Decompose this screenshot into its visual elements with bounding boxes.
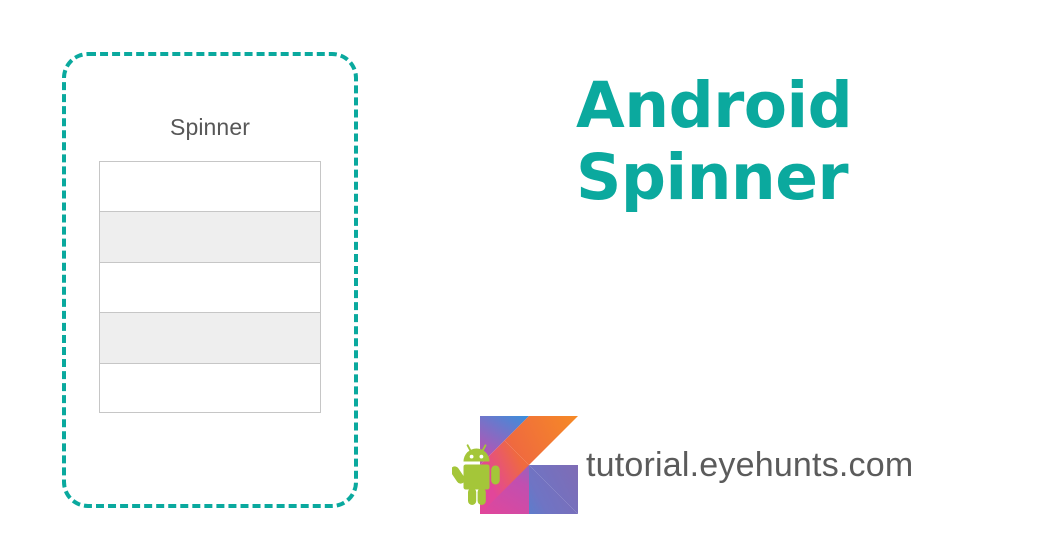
slide-canvas: Spinner Android Spinner xyxy=(0,0,1038,556)
page-title-line-2: Spinner xyxy=(576,142,1006,214)
page-title-line-1: Android xyxy=(576,70,1006,142)
spinner-row[interactable] xyxy=(100,364,320,413)
spinner-widget[interactable] xyxy=(99,161,321,413)
logo-lockup xyxy=(452,412,580,518)
android-robot-icon xyxy=(452,440,502,506)
spinner-row[interactable] xyxy=(100,263,320,313)
brand-footer: tutorial.eyehunts.com xyxy=(452,412,913,518)
spinner-label: Spinner xyxy=(66,116,354,139)
site-url[interactable]: tutorial.eyehunts.com xyxy=(586,446,913,485)
android-device-outline: Spinner xyxy=(62,52,358,508)
spinner-row[interactable] xyxy=(100,212,320,262)
spinner-row[interactable] xyxy=(100,313,320,363)
page-title: Android Spinner xyxy=(576,70,1006,215)
spinner-row[interactable] xyxy=(100,162,320,212)
